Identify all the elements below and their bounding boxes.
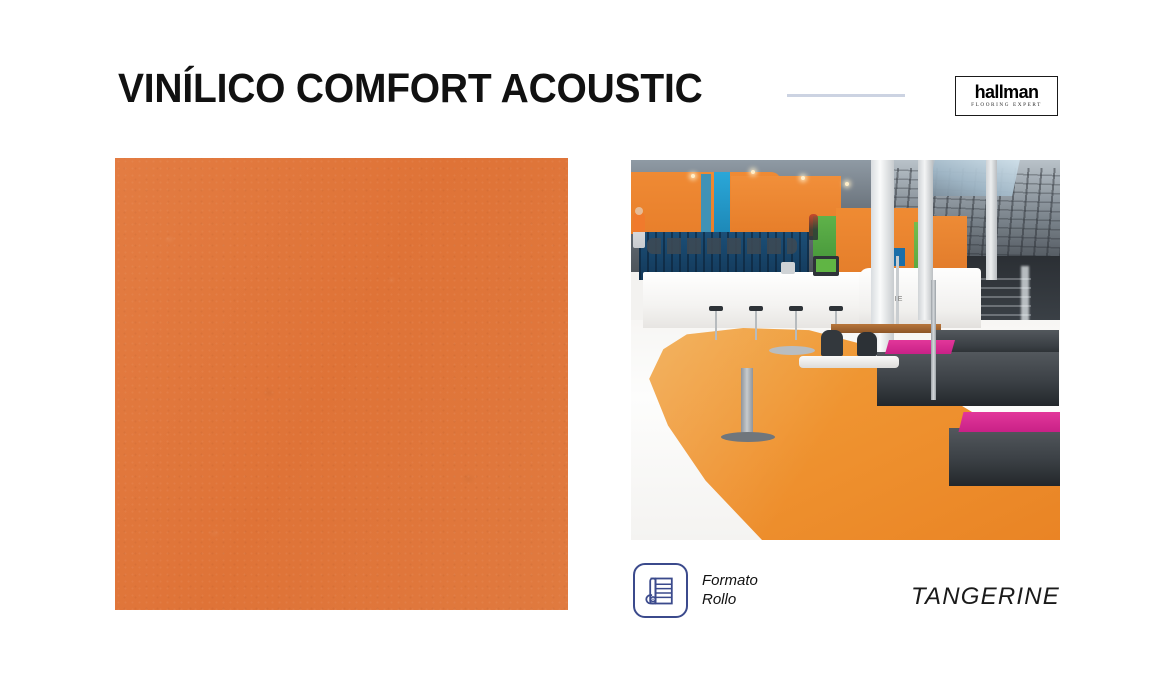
format-block: Formato Rollo bbox=[633, 563, 758, 618]
swatch-texture-overlay bbox=[115, 158, 568, 610]
photo-bench bbox=[877, 352, 1059, 406]
brand-tagline: FLOORING EXPERT bbox=[971, 103, 1042, 108]
photo-person bbox=[633, 212, 645, 248]
photo-monitor bbox=[781, 262, 795, 274]
photo-column bbox=[986, 160, 997, 280]
photo-blue-panel bbox=[701, 174, 711, 236]
photo-ceiling-lamp bbox=[801, 176, 805, 180]
format-label-line2: Rollo bbox=[702, 591, 758, 609]
photo-magenta-cushion bbox=[885, 340, 955, 354]
photo-person-head bbox=[635, 207, 643, 215]
format-label-line1: Formato bbox=[702, 572, 758, 590]
photo-blue-panel bbox=[714, 172, 730, 236]
photo-bench bbox=[949, 428, 1060, 486]
photo-stool bbox=[749, 306, 763, 340]
application-photo: BALIE bbox=[631, 160, 1060, 540]
photo-chair bbox=[821, 330, 843, 356]
photo-seating-row bbox=[647, 238, 797, 254]
photo-person bbox=[809, 214, 818, 240]
photo-stool bbox=[709, 306, 723, 340]
product-name: TANGERINE bbox=[911, 583, 1060, 611]
photo-chair bbox=[857, 332, 877, 356]
photo-ceiling-lamp bbox=[751, 170, 755, 174]
photo-magenta-cushion bbox=[959, 412, 1060, 432]
photo-wood-table bbox=[831, 324, 941, 333]
title-divider bbox=[787, 94, 905, 97]
page-title: VINÍLICO COMFORT ACOUSTIC bbox=[118, 68, 703, 109]
page-header: VINÍLICO COMFORT ACOUSTIC hallman FLOORI… bbox=[0, 0, 1176, 140]
photo-reception-desk bbox=[643, 272, 893, 328]
brand-name: hallman bbox=[975, 83, 1039, 101]
color-swatch bbox=[115, 158, 568, 610]
roll-icon bbox=[633, 563, 688, 618]
format-label: Formato Rollo bbox=[702, 572, 758, 609]
photo-round-table bbox=[799, 356, 899, 368]
photo-thin-column bbox=[931, 280, 936, 400]
brand-logo-inner: hallman FLOORING EXPERT bbox=[956, 77, 1057, 115]
photo-monitor-screen bbox=[816, 259, 836, 272]
photo-sign-pole bbox=[896, 256, 899, 332]
photo-table-base bbox=[721, 432, 775, 442]
brand-logo: hallman FLOORING EXPERT bbox=[955, 76, 1058, 116]
photo-ceiling-lamp bbox=[691, 174, 695, 178]
photo-table-pole bbox=[741, 368, 753, 436]
photo-skylight bbox=[927, 160, 1020, 196]
photo-column-base bbox=[769, 346, 815, 355]
photo-stool bbox=[789, 306, 803, 340]
photo-ceiling-lamp bbox=[845, 182, 849, 186]
